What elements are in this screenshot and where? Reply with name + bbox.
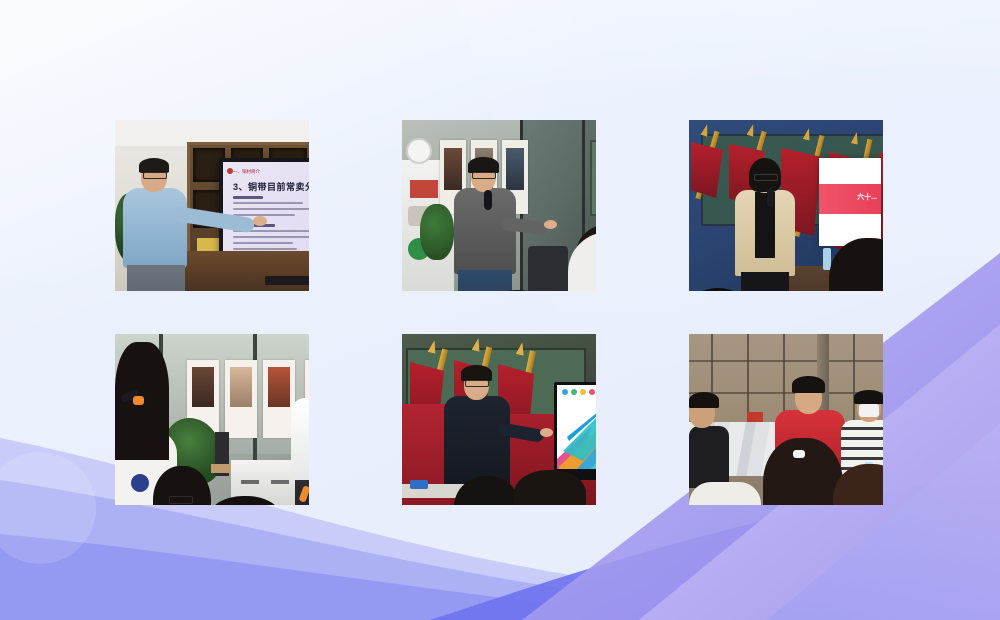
photo-2[interactable]: Male speaker in dark grey polo holding a… [402,120,596,291]
microphone-icon [767,188,774,207]
face-mask-icon [859,404,879,417]
slide-section-tag: 一、铜材简介 [233,169,260,175]
photo-1[interactable]: 一、铜材简介 3、铜带目前常卖分类 [115,120,309,291]
whiteboard [590,140,596,216]
presentation-display: 学生思维 思维的转 人力资源部 [554,382,596,480]
photo-1-scene: 一、铜材简介 3、铜带目前常卖分类 [115,120,309,291]
photo-6[interactable]: Factory floor visit: a man in a red T-sh… [689,334,883,505]
slide-dots [562,389,595,395]
gallery-page: 一、铜材简介 3、铜带目前常卖分类 [0,0,1000,620]
microphone-icon [484,190,492,210]
photo-5-slide: 学生思维 思维的转 人力资源部 [557,385,596,469]
photo-4-scene [115,334,309,505]
photo-4[interactable]: Male trainer in white short-sleeve shirt… [115,334,309,505]
photo-2-scene [402,120,596,291]
wall-clock-icon [406,138,432,164]
slide-heading: 3、铜带目前常卖分类 [233,180,309,193]
photo-6-scene [689,334,883,505]
slide-banner-text: 六十... [857,192,877,202]
photo-3-scene: 六十... [689,120,883,291]
photo-5-scene: 学生思维 思维的转 人力资源部 [402,334,596,505]
badge-icon [131,474,149,492]
photo-grid: 一、铜材简介 3、铜带目前常卖分类 [75,104,926,521]
plant-icon [420,204,454,260]
photo-3-slide: 六十... [819,158,881,246]
arrow-graphic-icon [557,385,596,469]
microphone-icon [464,430,473,452]
photo-5[interactable]: 学生思维 思维的转 人力资源部 [402,334,596,505]
photo-3[interactable]: 六十... Female speaker in beige blazer hol… [689,120,883,291]
